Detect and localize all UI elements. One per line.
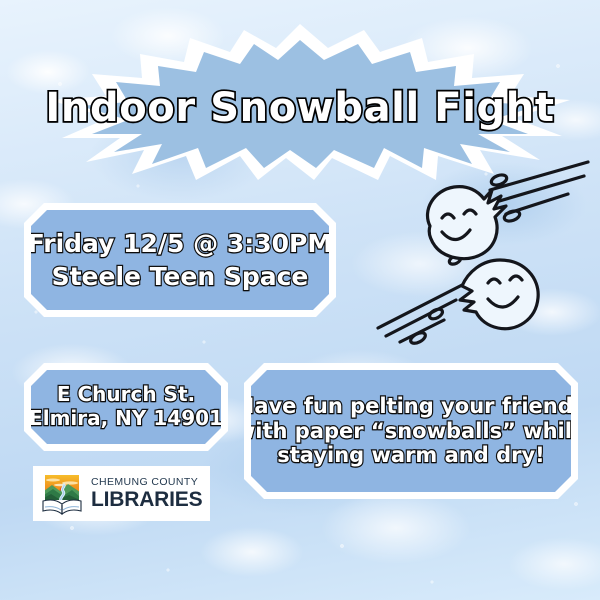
library-landscape-book-icon	[39, 471, 85, 517]
datetime-line-2: Steele Teen Space	[52, 262, 309, 292]
page-title: Indoor Snowball Fight	[28, 28, 572, 188]
description-line-2: with paper “snowballs” while	[236, 419, 586, 444]
description-box-inner: Have fun pelting your friends with paper…	[251, 370, 571, 492]
datetime-line-1: Friday 12/5 @ 3:30PM	[28, 229, 332, 259]
logo-line-2: LIBRARIES	[91, 489, 202, 510]
poster-canvas: Indoor Snowball Fight	[0, 0, 600, 600]
logo-wordmark: CHEMUNG COUNTY LIBRARIES	[91, 477, 202, 510]
description-line-1: Have fun pelting your friends	[237, 394, 586, 419]
address-line-1: E Church St.	[57, 383, 195, 407]
address-line-2: Elmira, NY 14901	[29, 407, 223, 431]
address-box-inner: E Church St. Elmira, NY 14901	[31, 370, 221, 444]
description-line-3: staying warm and dry!	[277, 443, 544, 468]
address-box: E Church St. Elmira, NY 14901	[24, 363, 228, 451]
logo-line-1: CHEMUNG COUNTY	[91, 477, 202, 488]
title-banner: Indoor Snowball Fight	[28, 22, 572, 182]
open-book	[43, 500, 81, 514]
description-box: Have fun pelting your friends with paper…	[244, 363, 578, 499]
chemung-county-libraries-logo: CHEMUNG COUNTY LIBRARIES	[33, 466, 210, 521]
datetime-box: Friday 12/5 @ 3:30PM Steele Teen Space	[24, 203, 336, 317]
datetime-box-inner: Friday 12/5 @ 3:30PM Steele Teen Space	[31, 210, 329, 310]
